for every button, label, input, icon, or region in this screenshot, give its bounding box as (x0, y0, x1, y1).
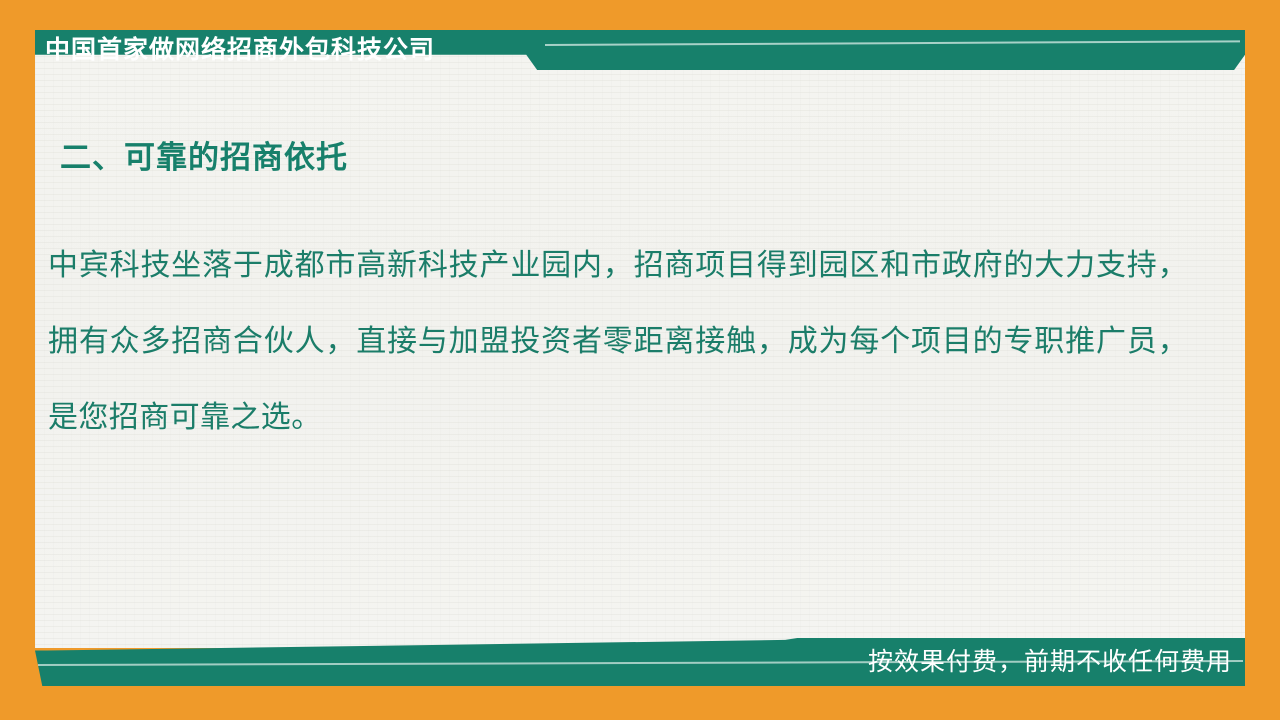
body-paragraph: 中宾科技坐落于成都市高新科技产业园内，招商项目得到园区和市政府的大力支持，拥有众… (48, 228, 1188, 456)
presentation-slide: 中国首家做网络招商外包科技公司 二、可靠的招商依托 中宾科技坐落于成都市高新科技… (0, 0, 1280, 720)
section-heading: 二、可靠的招商依托 (60, 132, 348, 177)
header-company-tagline: 中国首家做网络招商外包科技公司 (45, 30, 435, 70)
footer-tagline: 按效果付费，前期不收任何费用 (868, 640, 1232, 684)
